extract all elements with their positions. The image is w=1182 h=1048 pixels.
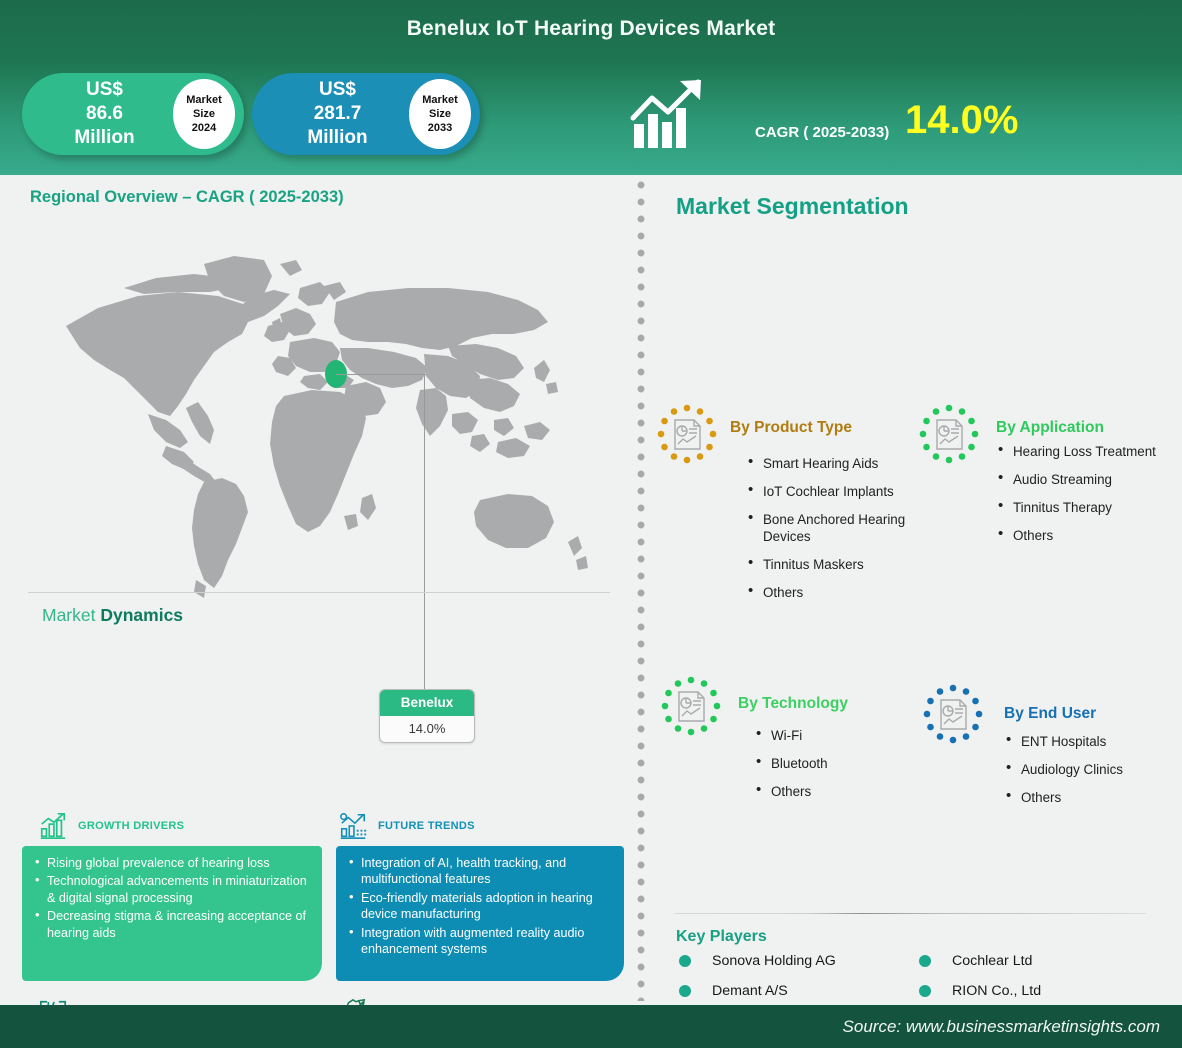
segment-list: ENT Hospitals Audiology Clinics Others [1004, 733, 1182, 817]
source-text: Source: www.businessmarketinsights.com [843, 1017, 1160, 1037]
content-area: Regional Overview – CAGR ( 2025-2033) [0, 175, 1182, 1005]
segment-heading: By Product Type [730, 419, 852, 437]
segment-list: Hearing Loss Treatment Audio Streaming T… [996, 443, 1166, 555]
market-size-2024-badge: Market Size 2024 [173, 79, 235, 149]
list-item: Integration with augmented reality audio… [348, 925, 612, 958]
list-item: Technological advancements in miniaturiz… [34, 873, 310, 906]
list-item: IoT Cochlear Implants [746, 483, 916, 500]
list-item: Wi-Fi [754, 727, 924, 744]
future-trends-list: Integration of AI, health tracking, and … [348, 855, 612, 957]
report-document-chart-icon [656, 403, 718, 465]
infographic-page: Benelux IoT Hearing Devices Market US$ 8… [0, 0, 1182, 1048]
page-title: Benelux IoT Hearing Devices Market [0, 17, 1182, 41]
list-item: Bluetooth [754, 755, 924, 772]
list-item: Others [1004, 789, 1182, 806]
list-item: Bone Anchored Hearing Devices [746, 511, 916, 545]
growth-drivers-list: Rising global prevalence of hearing loss… [34, 855, 310, 941]
growth-drivers-label: GROWTH DRIVERS [78, 820, 184, 832]
market-size-2024-currency: US$ [36, 78, 173, 102]
market-size-2033-unit: Million [266, 126, 409, 150]
list-item: Audio Streaming [996, 471, 1166, 488]
leader-line-horizontal [336, 374, 426, 375]
world-map-svg [28, 230, 608, 670]
list-item: Rising global prevalence of hearing loss [34, 855, 310, 871]
market-dynamics-title: Market Dynamics [42, 605, 183, 626]
segment-heading: By Technology [738, 695, 848, 713]
future-trends-label: FUTURE TRENDS [378, 820, 475, 832]
cagr-label: CAGR ( 2025-2033) [755, 124, 889, 141]
trend-forecast-icon [338, 811, 368, 841]
list-item: Others [996, 527, 1166, 544]
market-dynamics-title-light: Market [42, 605, 100, 625]
market-size-2033-badge: Market Size 2033 [409, 79, 471, 149]
market-segmentation-title: Market Segmentation [676, 193, 909, 220]
header-banner: Benelux IoT Hearing Devices Market US$ 8… [0, 0, 1182, 175]
market-dynamics-divider [28, 592, 610, 593]
future-trends-card: Integration of AI, health tracking, and … [336, 846, 624, 981]
report-document-chart-icon [918, 403, 980, 465]
list-item: Integration of AI, health tracking, and … [348, 855, 612, 888]
leader-line-vertical [424, 374, 425, 696]
market-size-2033-number: 281.7 [266, 102, 409, 126]
bar-chart-growth-icon [38, 811, 68, 841]
badge-line-3: 2024 [192, 121, 216, 135]
key-players-divider [674, 913, 1146, 914]
footer-bar: Source: www.businessmarketinsights.com [0, 1005, 1182, 1048]
badge-line-3: 2033 [428, 121, 452, 135]
growth-drivers-card: Rising global prevalence of hearing loss… [22, 846, 322, 981]
report-document-chart-icon [660, 675, 722, 737]
market-size-2024-unit: Million [36, 126, 173, 150]
world-map: Benelux 14.0% [28, 230, 608, 670]
list-item: Tinnitus Therapy [996, 499, 1166, 516]
market-dynamics-title-bold: Dynamics [100, 605, 183, 625]
list-item: Others [746, 584, 916, 601]
market-size-2024-number: 86.6 [36, 102, 173, 126]
badge-line-2: Size [429, 107, 451, 121]
future-trends-header: FUTURE TRENDS [338, 811, 475, 841]
cagr-value: 14.0% [905, 100, 1018, 140]
badge-line-1: Market [422, 93, 457, 107]
list-item: Decreasing stigma & increasing acceptanc… [34, 908, 310, 941]
list-item: Sonova Holding AG [676, 952, 926, 982]
segment-list: Smart Hearing Aids IoT Cochlear Implants… [746, 455, 916, 612]
market-size-2033-currency: US$ [266, 78, 409, 102]
list-item: Cochlear Ltd [916, 952, 1166, 982]
growth-drivers-header: GROWTH DRIVERS [38, 811, 184, 841]
tooltip-region-name: Benelux [380, 690, 474, 716]
list-item: Eco-friendly materials adoption in heari… [348, 890, 612, 923]
report-document-chart-icon [922, 683, 984, 745]
tooltip-region-value: 14.0% [380, 716, 474, 742]
market-size-2024-pill: US$ 86.6 Million Market Size 2024 [22, 73, 244, 155]
key-players-title: Key Players [676, 928, 767, 946]
list-item: Others [754, 783, 924, 800]
list-item: Hearing Loss Treatment [996, 443, 1166, 460]
column-divider [637, 181, 645, 1001]
benelux-tooltip: Benelux 14.0% [379, 689, 475, 743]
segment-heading: By End User [1004, 705, 1096, 723]
list-item: Tinnitus Maskers [746, 556, 916, 573]
list-item: Smart Hearing Aids [746, 455, 916, 472]
badge-line-2: Size [193, 107, 215, 121]
badge-line-1: Market [186, 93, 221, 107]
market-size-2033-pill: US$ 281.7 Million Market Size 2033 [252, 73, 480, 155]
market-size-2033-value: US$ 281.7 Million [252, 78, 409, 150]
growth-chart-arrow-icon [630, 78, 720, 150]
regional-overview-title: Regional Overview – CAGR ( 2025-2033) [30, 188, 344, 207]
market-size-2024-value: US$ 86.6 Million [22, 78, 173, 150]
segment-heading: By Application [996, 419, 1104, 437]
list-item: ENT Hospitals [1004, 733, 1182, 750]
list-item: Audiology Clinics [1004, 761, 1182, 778]
segment-list: Wi-Fi Bluetooth Others [754, 727, 924, 811]
